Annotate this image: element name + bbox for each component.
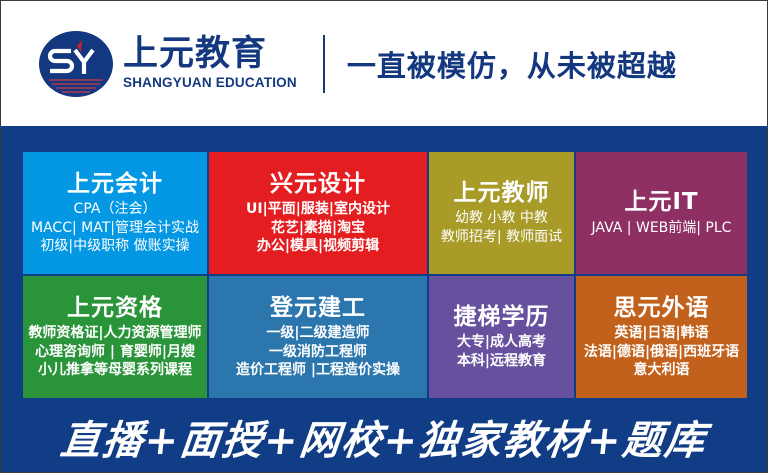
program-title: 兴元设计 <box>270 171 366 197</box>
program-detail-list: 一级|二级建造师 一级消防工程师 造价工程师 |工程造价实操 <box>236 324 400 379</box>
program-detail-line: JAVA | WEB前端| PLC <box>592 219 732 237</box>
program-detail-line: 小儿推拿等母婴系列课程 <box>28 361 201 379</box>
program-title: 上元会计 <box>67 171 163 197</box>
program-card-design[interactable]: 兴元设计 UI|平面|服装|室内设计 花艺|素描|淘宝 办公|模具|视频剪辑 <box>209 152 427 274</box>
program-title: 上元IT <box>624 189 698 215</box>
programs-row-2: 上元资格 教师资格证|人力资源管理师 心理咨询师 | 育婴师|月嫂 小儿推拿等母… <box>23 276 747 398</box>
program-detail-line: 教师资格证|人力资源管理师 <box>28 324 201 342</box>
programs-panel: 上元会计 CPA（注会） MACC| MAT|管理会计实战 初级|中级职称 做账… <box>1 126 767 472</box>
program-title: 登元建工 <box>270 295 366 321</box>
program-card-construction[interactable]: 登元建工 一级|二级建造师 一级消防工程师 造价工程师 |工程造价实操 <box>209 276 427 398</box>
program-card-foreign-language[interactable]: 思元外语 英语|日语|韩语 法语|德语|俄语|西班牙语 意大利语 <box>576 276 747 398</box>
program-detail-list: 大专|成人高考 本科|远程教育 <box>457 333 546 369</box>
program-detail-line: 初级|中级职称 做账实操 <box>31 237 199 255</box>
program-detail-list: 英语|日语|韩语 法语|德语|俄语|西班牙语 意大利语 <box>584 324 739 379</box>
program-detail-line: UI|平面|服装|室内设计 <box>246 200 390 218</box>
program-detail-list: 教师资格证|人力资源管理师 心理咨询师 | 育婴师|月嫂 小儿推拿等母婴系列课程 <box>28 324 201 379</box>
program-title: 上元资格 <box>67 295 163 321</box>
program-title: 上元教师 <box>454 180 550 206</box>
brand-name-en: SHANGYUAN EDUCATION <box>123 75 297 91</box>
programs-row-1: 上元会计 CPA（注会） MACC| MAT|管理会计实战 初级|中级职称 做账… <box>23 152 747 274</box>
program-title: 思元外语 <box>614 295 710 321</box>
program-detail-line: CPA（注会） <box>31 200 199 218</box>
program-detail-line: MACC| MAT|管理会计实战 <box>31 219 199 237</box>
program-title: 捷梯学历 <box>454 304 550 330</box>
program-card-accounting[interactable]: 上元会计 CPA（注会） MACC| MAT|管理会计实战 初级|中级职称 做账… <box>23 152 207 274</box>
program-detail-line: 大专|成人高考 <box>457 333 546 351</box>
programs-grid: 上元会计 CPA（注会） MACC| MAT|管理会计实战 初级|中级职称 做账… <box>23 152 747 398</box>
footer-slogan-bar: 直播+面授+网校+独家教材+题库 <box>1 402 767 472</box>
program-detail-line: 心理咨询师 | 育婴师|月嫂 <box>28 343 201 361</box>
program-detail-list: UI|平面|服装|室内设计 花艺|素描|淘宝 办公|模具|视频剪辑 <box>246 200 390 255</box>
header-tagline: 一直被模仿，从未被超越 <box>347 43 677 85</box>
program-detail-list: 幼教 小教 中教 教师招考| 教师面试 <box>441 209 562 245</box>
program-detail-line: 办公|模具|视频剪辑 <box>246 237 390 255</box>
program-detail-line: 造价工程师 |工程造价实操 <box>236 361 400 379</box>
program-detail-line: 教师招考| 教师面试 <box>441 228 562 246</box>
sy-oval-logo-icon <box>37 28 115 100</box>
program-card-degree[interactable]: 捷梯学历 大专|成人高考 本科|远程教育 <box>429 276 574 398</box>
program-detail-line: 一级|二级建造师 <box>236 324 400 342</box>
program-detail-list: CPA（注会） MACC| MAT|管理会计实战 初级|中级职称 做账实操 <box>31 200 199 255</box>
poster-root: 上元教育 SHANGYUAN EDUCATION 一直被模仿，从未被超越 上元会… <box>0 0 768 473</box>
program-detail-line: 幼教 小教 中教 <box>441 209 562 227</box>
program-card-qualification[interactable]: 上元资格 教师资格证|人力资源管理师 心理咨询师 | 育婴师|月嫂 小儿推拿等母… <box>23 276 207 398</box>
header-divider <box>323 35 325 93</box>
program-detail-line: 本科|远程教育 <box>457 352 546 370</box>
program-detail-line: 花艺|素描|淘宝 <box>246 219 390 237</box>
brand-wordmark: 上元教育 SHANGYUAN EDUCATION <box>123 28 297 100</box>
program-detail-list: JAVA | WEB前端| PLC <box>592 219 732 237</box>
program-detail-line: 法语|德语|俄语|西班牙语 <box>584 343 739 361</box>
header-bar: 上元教育 SHANGYUAN EDUCATION 一直被模仿，从未被超越 <box>1 1 767 126</box>
program-detail-line: 意大利语 <box>584 361 739 379</box>
program-card-teacher[interactable]: 上元教师 幼教 小教 中教 教师招考| 教师面试 <box>429 152 574 274</box>
program-detail-line: 英语|日语|韩语 <box>584 324 739 342</box>
program-card-it[interactable]: 上元IT JAVA | WEB前端| PLC <box>576 152 747 274</box>
program-detail-line: 一级消防工程师 <box>236 343 400 361</box>
footer-slogan-text: 直播+面授+网校+独家教材+题库 <box>58 408 710 466</box>
brand-name-cn: 上元教育 <box>123 36 297 73</box>
brand-logo[interactable]: 上元教育 SHANGYUAN EDUCATION <box>37 27 297 101</box>
